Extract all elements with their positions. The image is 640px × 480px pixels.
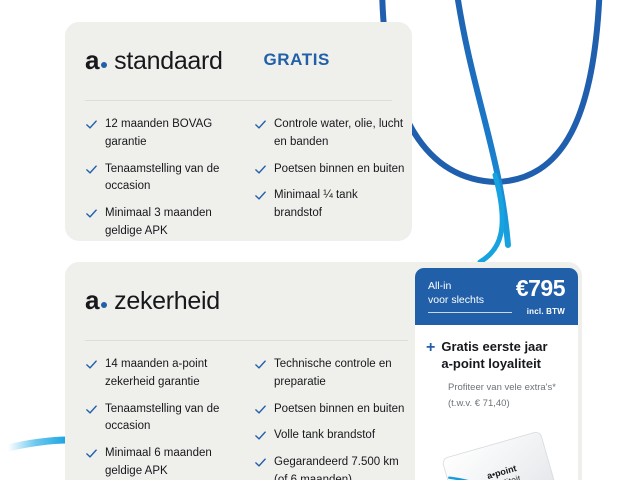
- check-icon: [254, 118, 267, 131]
- list-item: Minimaal 3 maanden geldige APK: [85, 205, 237, 241]
- swoosh-left-accent: [8, 440, 68, 448]
- header-divider: [85, 340, 408, 341]
- feature-text: Gegarandeerd 7.500 km (of 6 maanden) ond…: [274, 454, 406, 480]
- check-icon: [254, 163, 267, 176]
- list-item: 14 maanden a-point zekerheid garantie: [85, 356, 237, 392]
- list-item: Poetsen binnen en buiten: [254, 161, 406, 179]
- bonus-section: + Gratis eerste jaar a-point loyaliteit …: [415, 325, 578, 412]
- feature-text: Poetsen binnen en buiten: [274, 401, 404, 419]
- swoosh-arc-tail: [480, 175, 502, 262]
- check-icon: [254, 403, 267, 416]
- swoosh-arc-top: [382, 0, 600, 182]
- feature-text: Tenaamstelling van de occasion: [105, 161, 237, 197]
- feature-column-right: Controle water, olie, lucht en banden Po…: [254, 116, 406, 250]
- list-item: Technische controle en preparatie: [254, 356, 406, 392]
- feature-text: Tenaamstelling van de occasion: [105, 401, 237, 437]
- feature-text: Volle tank brandstof: [274, 427, 375, 445]
- bonus-subtext-line1: Profiteer van vele extra's*: [448, 380, 565, 396]
- bonus-title-row: + Gratis eerste jaar a-point loyaliteit: [426, 339, 565, 373]
- package-name: standaard: [114, 49, 223, 74]
- feature-column-left: 14 maanden a-point zekerheid garantie Te…: [85, 356, 237, 480]
- brand-dot-icon: [101, 62, 107, 68]
- feature-column-right: Technische controle en preparatie Poetse…: [254, 356, 406, 480]
- price-label-standaard: GRATIS: [263, 50, 330, 70]
- price-header: All-in voor slechts €795 incl. BTW: [415, 268, 578, 325]
- card-header-standaard: a standaard GRATIS: [85, 40, 392, 80]
- bonus-subtext-line2: (t.w.v. € 71,40): [448, 396, 565, 412]
- list-item: Controle water, olie, lucht en banden: [254, 116, 406, 152]
- loyalty-card-image: a•point loyaliteit: [435, 430, 561, 480]
- vat-note: incl. BTW: [527, 307, 565, 316]
- check-icon: [85, 447, 98, 460]
- brand-dot-icon: [101, 302, 107, 308]
- price-panel[interactable]: All-in voor slechts €795 incl. BTW + Gra…: [415, 268, 578, 480]
- feature-text: Minimaal 6 maanden geldige APK: [105, 445, 237, 480]
- check-icon: [254, 456, 267, 469]
- price-underline: [428, 312, 512, 313]
- check-icon: [85, 163, 98, 176]
- swoosh-arc-right: [455, 0, 508, 245]
- feature-text: Controle water, olie, lucht en banden: [274, 116, 406, 152]
- plus-icon: +: [426, 339, 435, 357]
- price-header-row: All-in voor slechts €795: [428, 277, 565, 307]
- feature-text: 12 maanden BOVAG garantie: [105, 116, 237, 152]
- brand-letter: a: [85, 47, 99, 73]
- header-divider: [85, 100, 392, 101]
- list-item: Tenaamstelling van de occasion: [85, 401, 237, 437]
- check-icon: [254, 189, 267, 202]
- list-item: Volle tank brandstof: [254, 427, 406, 445]
- check-icon: [85, 118, 98, 131]
- package-card-standaard[interactable]: a standaard GRATIS 12 maanden BOVAG gara…: [65, 22, 412, 241]
- feature-text: Minimaal 3 maanden geldige APK: [105, 205, 237, 241]
- check-icon: [254, 358, 267, 371]
- brand-letter: a: [85, 287, 99, 313]
- allin-label: All-in voor slechts: [428, 277, 484, 307]
- brand-logo-standaard: a standaard: [85, 47, 223, 74]
- bonus-title-line2: a-point loyaliteit: [441, 356, 541, 371]
- package-name: zekerheid: [114, 289, 220, 314]
- list-item: Minimaal ¼ tank brandstof: [254, 187, 406, 223]
- price-amount: €795: [516, 277, 565, 300]
- promo-page: a standaard GRATIS 12 maanden BOVAG gara…: [0, 0, 640, 480]
- feature-columns-zekerheid: 14 maanden a-point zekerheid garantie Te…: [85, 356, 406, 480]
- feature-text: Poetsen binnen en buiten: [274, 161, 404, 179]
- bonus-title: Gratis eerste jaar a-point loyaliteit: [441, 339, 547, 373]
- feature-text: Minimaal ¼ tank brandstof: [274, 187, 406, 223]
- feature-column-left: 12 maanden BOVAG garantie Tenaamstelling…: [85, 116, 237, 250]
- check-icon: [254, 429, 267, 442]
- allin-label-line1: All-in: [428, 279, 484, 293]
- list-item: 12 maanden BOVAG garantie: [85, 116, 237, 152]
- brand-logo-zekerheid: a zekerheid: [85, 287, 220, 314]
- list-item: Poetsen binnen en buiten: [254, 401, 406, 419]
- check-icon: [85, 403, 98, 416]
- feature-text: 14 maanden a-point zekerheid garantie: [105, 356, 237, 392]
- feature-columns-standaard: 12 maanden BOVAG garantie Tenaamstelling…: [85, 116, 406, 250]
- feature-text: Technische controle en preparatie: [274, 356, 406, 392]
- list-item: Tenaamstelling van de occasion: [85, 161, 237, 197]
- list-item: Minimaal 6 maanden geldige APK: [85, 445, 237, 480]
- list-item: Gegarandeerd 7.500 km (of 6 maanden) ond…: [254, 454, 406, 480]
- bonus-title-line1: Gratis eerste jaar: [441, 339, 547, 354]
- bonus-subtext: Profiteer van vele extra's* (t.w.v. € 71…: [448, 380, 565, 412]
- check-icon: [85, 358, 98, 371]
- allin-label-line2: voor slechts: [428, 293, 484, 307]
- check-icon: [85, 207, 98, 220]
